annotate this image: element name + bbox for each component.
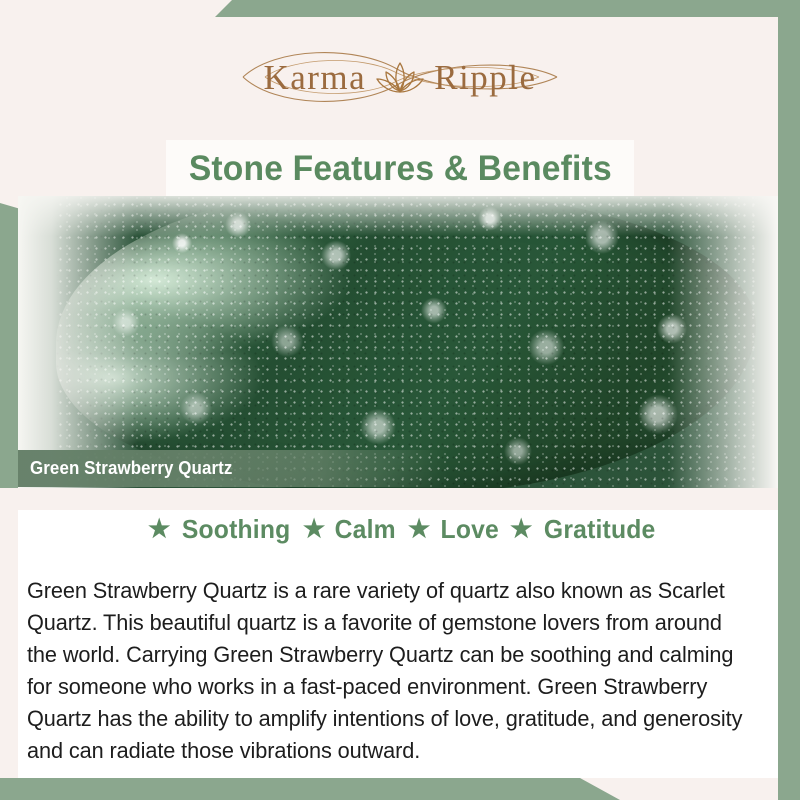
frame-accent-right bbox=[778, 0, 800, 800]
lotus-flower-icon bbox=[372, 55, 428, 99]
feature-tag-list: ★ Soothing ★ Calm ★ Love ★ Gratitude bbox=[18, 514, 778, 545]
brand-header: Karma Ripple bbox=[0, 34, 800, 120]
brand-logo: Karma Ripple bbox=[235, 39, 565, 115]
photo-caption-band: Green Strawberry Quartz bbox=[18, 450, 448, 487]
feature-tag-love: ★ Love bbox=[398, 514, 500, 545]
photo-caption-label: Green Strawberry Quartz bbox=[30, 458, 232, 479]
page-title: Stone Features & Benefits bbox=[188, 149, 611, 189]
feature-tag-gratitude: ★ Gratitude bbox=[500, 514, 658, 545]
feature-tag-soothing: ★ Soothing bbox=[138, 514, 293, 545]
star-icon: ★ bbox=[408, 517, 431, 542]
brand-word-karma: Karma bbox=[263, 60, 366, 95]
frame-accent-bottom bbox=[0, 778, 620, 800]
description-paragraph: Green Strawberry Quartz is a rare variet… bbox=[27, 575, 747, 767]
feature-tag-label: Gratitude bbox=[544, 514, 656, 545]
quartz-specimen-image bbox=[56, 196, 756, 488]
feature-tag-label: Soothing bbox=[181, 514, 290, 545]
star-icon: ★ bbox=[303, 517, 326, 542]
feature-tag-calm: ★ Calm bbox=[293, 514, 398, 545]
section-title-band: Stone Features & Benefits bbox=[166, 140, 634, 197]
stone-info-card: Karma Ripple Stone Features & Benefits bbox=[0, 0, 800, 800]
photo-fade-left bbox=[18, 196, 138, 488]
frame-accent-top bbox=[215, 0, 800, 17]
stone-texture-overlay bbox=[56, 196, 756, 488]
feature-tag-label: Love bbox=[440, 514, 498, 545]
photo-fade-right bbox=[668, 196, 778, 488]
content-panel: ★ Soothing ★ Calm ★ Love ★ Gratitude Gre… bbox=[18, 488, 778, 778]
content-top-tint bbox=[18, 488, 778, 510]
brand-word-ripple: Ripple bbox=[434, 60, 536, 95]
star-icon: ★ bbox=[510, 517, 533, 542]
stone-photo bbox=[18, 196, 778, 488]
star-icon: ★ bbox=[148, 517, 171, 542]
feature-tag-label: Calm bbox=[335, 514, 396, 545]
